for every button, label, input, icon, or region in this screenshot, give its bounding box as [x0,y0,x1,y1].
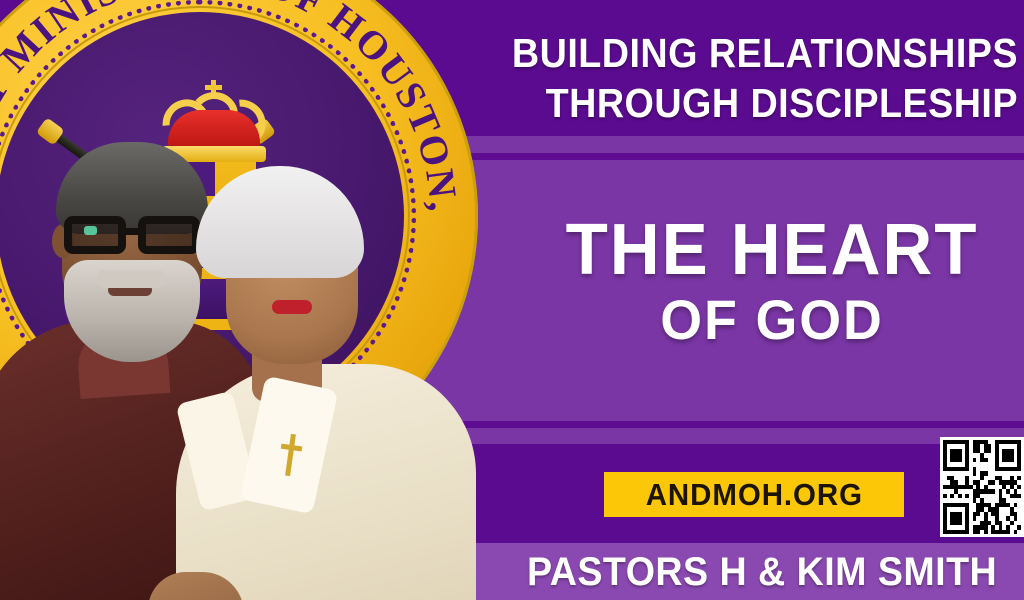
man-mustache [96,270,166,288]
pastors-photo [0,120,500,600]
website-url-text: ANDMOH.ORG [645,477,862,513]
sermon-title-line-2: OF GOD [530,290,1014,350]
glasses-bridge [126,228,142,235]
website-badge[interactable]: ANDMOH.ORG [604,472,904,517]
glasses-lens-left [64,216,126,254]
sermon-title-line-1: THE HEART [530,214,1014,286]
sermon-graphic: A NEW DAY MINISTRIES OF HOUSTON, INC. [0,0,1024,600]
pastors-name-bar: PASTORS H & KIM SMITH [0,545,1024,600]
glasses-lens-right [138,216,200,254]
glasses-icon [58,216,210,256]
sermon-title: THE HEART OF GOD [520,214,1024,350]
tagline-line-2: THROUGH DISCIPLESHIP [451,78,1018,128]
qr-code[interactable] [940,437,1024,537]
glasses-glint [84,226,97,235]
tagline-line-1: BUILDING RELATIONSHIPS [451,28,1018,78]
tagline: BUILDING RELATIONSHIPS THROUGH DISCIPLES… [451,28,1018,128]
qr-code-matrix [943,440,1021,534]
woman-lips [272,300,312,314]
pastors-name-text: PASTORS H & KIM SMITH [527,550,997,595]
woman-hair-front [196,166,364,278]
